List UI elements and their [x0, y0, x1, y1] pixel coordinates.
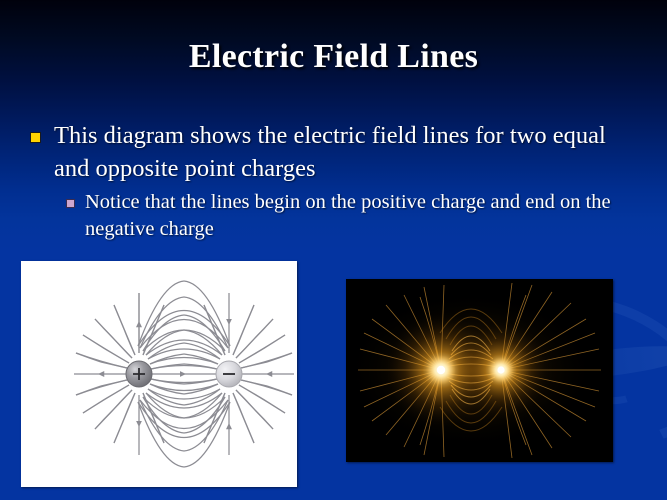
sub-bullet-square-icon [66, 199, 75, 208]
bullet-text-level1: This diagram shows the electric field li… [54, 120, 644, 185]
figure-field-line-photo [346, 279, 613, 462]
bullet-list: This diagram shows the electric field li… [24, 120, 644, 242]
figure-field-line-diagram [21, 261, 297, 487]
page-title: Electric Field Lines [0, 38, 667, 76]
bullet-text-level2: Notice that the lines begin on the posit… [85, 189, 644, 242]
bullet-square-icon [30, 132, 41, 143]
dipole-photo-svg [346, 279, 613, 462]
presentation-slide: Electric Field Lines This diagram shows … [0, 0, 667, 500]
list-item: Notice that the lines begin on the posit… [66, 189, 644, 242]
dipole-diagram-svg [21, 261, 297, 487]
list-item: This diagram shows the electric field li… [24, 120, 644, 185]
